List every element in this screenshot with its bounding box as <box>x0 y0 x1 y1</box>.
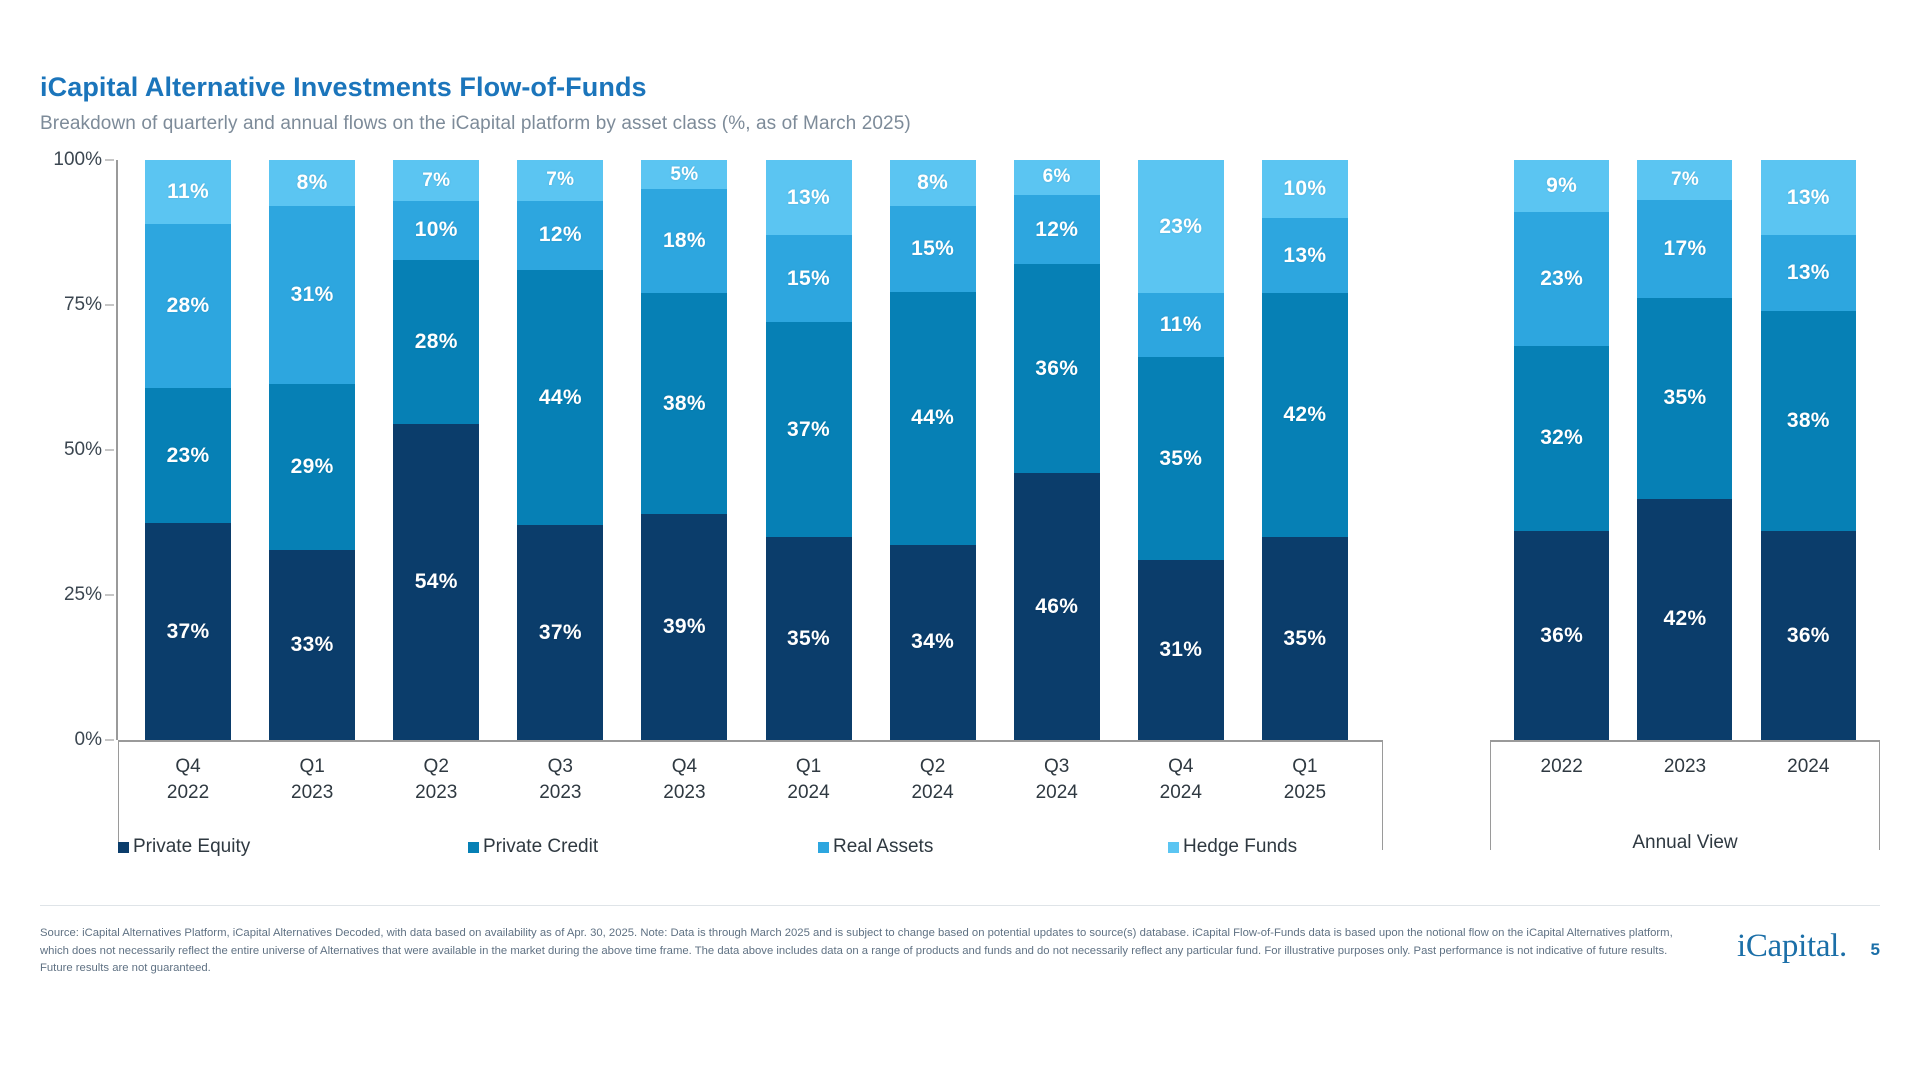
stacked-bar[interactable]: 6%12%36%46% <box>1014 160 1100 740</box>
bar-segment: 36% <box>1761 531 1856 740</box>
stacked-bar[interactable]: 13%15%37%35% <box>766 160 852 740</box>
x-axis-label: Q42024 <box>1119 754 1243 805</box>
bar-segment: 11% <box>1138 293 1224 357</box>
bar-segment: 12% <box>1014 195 1100 265</box>
icapital-logo: iCapital. <box>1737 928 1847 965</box>
x-axis-label-line1: Q2 <box>920 756 945 777</box>
bar-segment: 13% <box>1761 160 1856 235</box>
x-axis-label: Q12025 <box>1243 754 1367 805</box>
page-number: 5 <box>1871 940 1880 960</box>
bar-segment: 42% <box>1262 293 1348 537</box>
bar-segment: 13% <box>766 160 852 235</box>
y-axis-tick-label: 25% <box>64 584 102 606</box>
bar-segment: 15% <box>766 235 852 322</box>
bar-slot: 13%15%37%35% <box>746 160 870 740</box>
legend-label: Private Equity <box>133 836 250 858</box>
bar-segment: 11% <box>145 160 231 224</box>
legend-swatch-icon <box>818 842 829 853</box>
y-axis-tick-mark <box>105 450 114 451</box>
bar-segment: 39% <box>641 514 727 740</box>
x-axis-label-line1: Q4 <box>672 756 697 777</box>
x-axis-label-line2: 2024 <box>746 780 870 806</box>
x-axis-label-line2: 2024 <box>995 780 1119 806</box>
chart-area: 100%75%50%25%0% 11%28%23%37%8%31%29%33%7… <box>0 160 1920 760</box>
annual-bars: 9%23%32%36%7%17%35%42%13%13%38%36% <box>1490 160 1880 740</box>
x-axis-label-line1: 2024 <box>1787 756 1829 777</box>
legend-label: Private Credit <box>483 836 598 858</box>
bar-segment: 7% <box>517 160 603 201</box>
y-axis-tick-label: 75% <box>64 294 102 316</box>
chart-legend: Private EquityPrivate CreditReal AssetsH… <box>118 836 1518 858</box>
bar-segment: 13% <box>1262 218 1348 293</box>
x-axis-label-line2: 2023 <box>374 780 498 806</box>
bar-slot: 7%17%35%42% <box>1623 160 1746 740</box>
bar-segment: 31% <box>1138 560 1224 740</box>
x-axis-label: Q12023 <box>250 754 374 805</box>
stacked-bar[interactable]: 10%13%42%35% <box>1262 160 1348 740</box>
x-axis-label: Q12024 <box>746 754 870 805</box>
legend-item[interactable]: Private Equity <box>118 836 468 858</box>
y-axis-tick-mark <box>105 740 114 741</box>
bar-slot: 7%10%28%54% <box>374 160 498 740</box>
stacked-bar[interactable]: 5%18%38%39% <box>641 160 727 740</box>
x-axis-label-line1: Q2 <box>424 756 449 777</box>
stacked-bar[interactable]: 9%23%32%36% <box>1514 160 1609 740</box>
bar-slot: 5%18%38%39% <box>622 160 746 740</box>
page-title: iCapital Alternative Investments Flow-of… <box>40 72 647 103</box>
y-axis-tick-label: 100% <box>53 149 102 171</box>
y-axis: 100%75%50%25%0% <box>40 160 118 740</box>
bar-slot: 6%12%36%46% <box>995 160 1119 740</box>
bar-segment: 5% <box>641 160 727 189</box>
x-axis-label-line2: 2022 <box>126 780 250 806</box>
bar-segment: 35% <box>1262 537 1348 740</box>
x-axis-label: Q32023 <box>498 754 622 805</box>
legend-swatch-icon <box>118 842 129 853</box>
bar-slot: 9%23%32%36% <box>1500 160 1623 740</box>
page-subtitle: Breakdown of quarterly and annual flows … <box>40 113 911 135</box>
stacked-bar[interactable]: 11%28%23%37% <box>145 160 231 740</box>
stacked-bar[interactable]: 13%13%38%36% <box>1761 160 1856 740</box>
legend-swatch-icon <box>468 842 479 853</box>
y-axis-tick-mark <box>105 160 114 161</box>
brand-dot: . <box>1839 928 1847 964</box>
bar-segment: 36% <box>1014 264 1100 473</box>
stacked-bar[interactable]: 8%15%44%34% <box>890 160 976 740</box>
bar-segment: 46% <box>1014 473 1100 740</box>
bar-segment: 8% <box>269 160 355 206</box>
bar-segment: 34% <box>890 545 976 740</box>
y-axis-tick-label: 0% <box>75 729 102 751</box>
bar-segment: 38% <box>1761 311 1856 531</box>
bar-slot: 8%31%29%33% <box>250 160 374 740</box>
y-axis-tick-label: 50% <box>64 439 102 461</box>
bar-segment: 28% <box>145 224 231 388</box>
bar-segment: 17% <box>1637 200 1732 298</box>
bar-segment: 6% <box>1014 160 1100 195</box>
bar-segment: 38% <box>641 293 727 513</box>
x-axis-label-line1: Q3 <box>1044 756 1069 777</box>
legend-item[interactable]: Real Assets <box>818 836 1168 858</box>
stacked-bar[interactable]: 7%17%35%42% <box>1637 160 1732 740</box>
bar-segment: 10% <box>1262 160 1348 218</box>
bar-segment: 10% <box>393 201 479 260</box>
bar-slot: 10%13%42%35% <box>1243 160 1367 740</box>
legend-item[interactable]: Hedge Funds <box>1168 836 1518 858</box>
annual-x-axis-labels: 202220232024 <box>1490 740 1880 820</box>
x-axis-label: 2023 <box>1623 754 1746 780</box>
footer-divider <box>40 905 1880 906</box>
bar-segment: 35% <box>766 537 852 740</box>
bar-slot: 8%15%44%34% <box>871 160 995 740</box>
x-axis-label-line1: Q4 <box>175 756 200 777</box>
x-axis-label: Q42023 <box>622 754 746 805</box>
bar-segment: 33% <box>269 550 355 740</box>
bar-segment: 54% <box>393 424 479 740</box>
bar-segment: 37% <box>766 322 852 537</box>
legend-swatch-icon <box>1168 842 1179 853</box>
bar-segment: 35% <box>1138 357 1224 560</box>
quarterly-bars: 11%28%23%37%8%31%29%33%7%10%28%54%7%12%4… <box>118 160 1383 740</box>
x-axis-label-line2: 2023 <box>622 780 746 806</box>
stacked-bar[interactable]: 7%12%44%37% <box>517 160 603 740</box>
bar-segment: 23% <box>1138 160 1224 293</box>
bar-segment: 35% <box>1637 298 1732 499</box>
source-footnote: Source: iCapital Alternatives Platform, … <box>40 925 1690 978</box>
bar-segment: 32% <box>1514 346 1609 532</box>
x-axis-label: Q22023 <box>374 754 498 805</box>
bar-segment: 13% <box>1761 235 1856 310</box>
legend-label: Real Assets <box>833 836 933 858</box>
bar-segment: 31% <box>269 206 355 384</box>
quarterly-chart-panel: 11%28%23%37%8%31%29%33%7%10%28%54%7%12%4… <box>118 160 1383 740</box>
x-axis-label-line2: 2024 <box>871 780 995 806</box>
bar-segment: 15% <box>890 206 976 292</box>
x-axis-label-line1: 2022 <box>1541 756 1583 777</box>
x-axis-label-line2: 2024 <box>1119 780 1243 806</box>
bar-segment: 12% <box>517 201 603 271</box>
bar-segment: 23% <box>1514 212 1609 345</box>
bar-segment: 7% <box>393 160 479 201</box>
legend-item[interactable]: Private Credit <box>468 836 818 858</box>
bar-segment: 7% <box>1637 160 1732 200</box>
quarterly-x-axis-labels: Q42022Q12023Q22023Q32023Q42023Q12024Q220… <box>118 740 1383 820</box>
annual-chart-panel: 9%23%32%36%7%17%35%42%13%13%38%36% 20222… <box>1490 160 1880 740</box>
bar-segment: 8% <box>890 160 976 206</box>
x-axis-label-line2: 2023 <box>498 780 622 806</box>
y-axis-tick-mark <box>105 595 114 596</box>
bar-slot: 23%11%35%31% <box>1119 160 1243 740</box>
x-axis-label-line1: Q1 <box>796 756 821 777</box>
stacked-bar[interactable]: 8%31%29%33% <box>269 160 355 740</box>
x-axis-label: Q32024 <box>995 754 1119 805</box>
bar-segment: 29% <box>269 384 355 551</box>
stacked-bar[interactable]: 23%11%35%31% <box>1138 160 1224 740</box>
x-axis-label-line1: 2023 <box>1664 756 1706 777</box>
bar-segment: 18% <box>641 189 727 293</box>
bar-segment: 9% <box>1514 160 1609 212</box>
bar-slot: 13%13%38%36% <box>1747 160 1870 740</box>
bar-segment: 44% <box>517 270 603 525</box>
x-axis-label-line1: Q1 <box>299 756 324 777</box>
bar-segment: 36% <box>1514 531 1609 740</box>
slide: iCapital Alternative Investments Flow-of… <box>0 0 1920 1080</box>
x-axis-label-line2: 2025 <box>1243 780 1367 806</box>
stacked-bar[interactable]: 7%10%28%54% <box>393 160 479 740</box>
bar-segment: 23% <box>145 388 231 523</box>
bar-segment: 28% <box>393 260 479 424</box>
bar-segment: 37% <box>517 525 603 740</box>
x-axis-label: 2022 <box>1500 754 1623 780</box>
bar-slot: 7%12%44%37% <box>498 160 622 740</box>
x-axis-label-line1: Q4 <box>1168 756 1193 777</box>
bar-segment: 42% <box>1637 499 1732 740</box>
legend-label: Hedge Funds <box>1183 836 1297 858</box>
annual-view-caption: Annual View <box>1490 832 1880 854</box>
bar-segment: 37% <box>145 523 231 740</box>
bar-segment: 44% <box>890 292 976 545</box>
x-axis-label: Q42022 <box>126 754 250 805</box>
x-axis-label-line2: 2023 <box>250 780 374 806</box>
x-axis-label-line1: Q1 <box>1292 756 1317 777</box>
brand-name: iCapital <box>1737 928 1839 964</box>
bar-slot: 11%28%23%37% <box>126 160 250 740</box>
x-axis-label: 2024 <box>1747 754 1870 780</box>
x-axis-label: Q22024 <box>871 754 995 805</box>
y-axis-tick-mark <box>105 305 114 306</box>
x-axis-label-line1: Q3 <box>548 756 573 777</box>
